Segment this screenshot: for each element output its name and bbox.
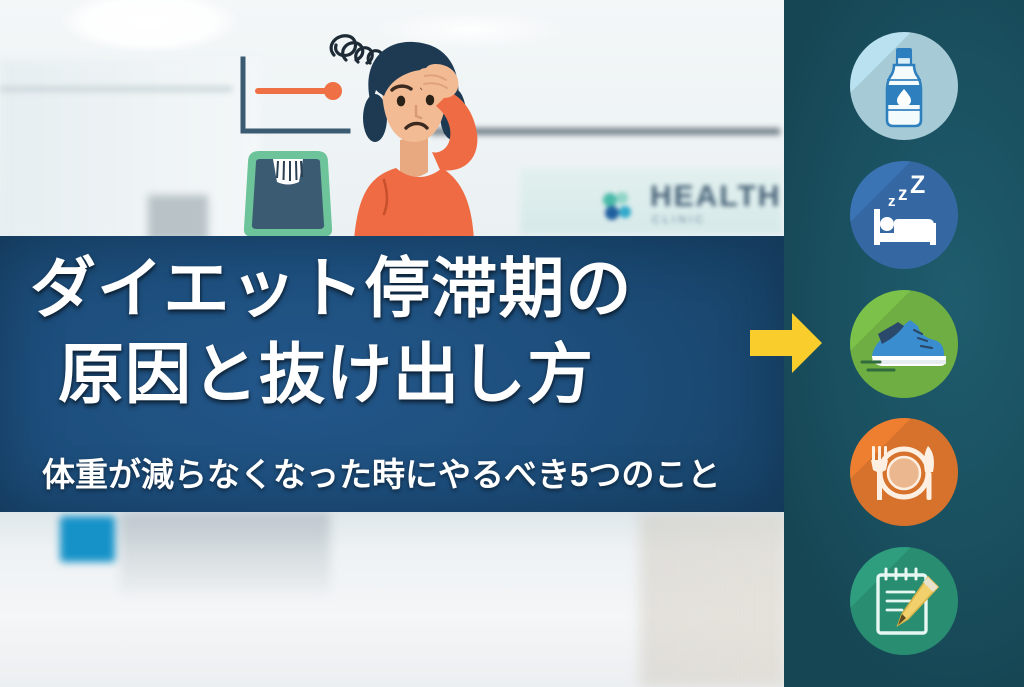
background-sign-text: HEALTH — [650, 180, 781, 214]
water-bottle-icon — [850, 32, 958, 140]
plate-fork-knife-icon — [850, 418, 958, 526]
background-wall-edge — [640, 512, 786, 687]
sidebar-icon-exercise[interactable] — [850, 290, 958, 398]
frustration-mark-icon — [331, 36, 382, 64]
svg-text:Z: Z — [910, 171, 925, 199]
health-logo-icon — [598, 186, 638, 226]
background-sign-subtext: CLINIC — [652, 214, 706, 226]
background-door — [148, 195, 208, 241]
notepad-pencil-icon — [850, 547, 958, 655]
background-railing — [0, 86, 232, 92]
running-shoe-icon — [850, 290, 958, 398]
sidebar-icon-sleep[interactable]: z z Z — [850, 161, 958, 269]
sidebar-icon-record[interactable] — [850, 547, 958, 655]
page-title-line1: ダイエット停滞期の — [30, 255, 632, 321]
right-arrow-icon — [748, 309, 824, 377]
background-teal-object — [60, 516, 115, 562]
page-title-line2: 原因と抜け出し方 — [58, 341, 594, 407]
sidebar-icon-water-bottle[interactable] — [850, 32, 958, 140]
bed-sleep-icon: z z Z — [850, 161, 958, 269]
background-medical-equipment — [120, 512, 330, 594]
worried-woman-illustration — [322, 22, 494, 240]
thumbnail-canvas: HEALTH CLINIC — [0, 0, 1024, 687]
sidebar-icon-meal[interactable] — [850, 418, 958, 526]
svg-text:z: z — [888, 193, 896, 210]
page-subtitle: 体重が減らなくなった時にやるべき5つのこと — [42, 448, 720, 496]
svg-text:z: z — [898, 184, 908, 205]
